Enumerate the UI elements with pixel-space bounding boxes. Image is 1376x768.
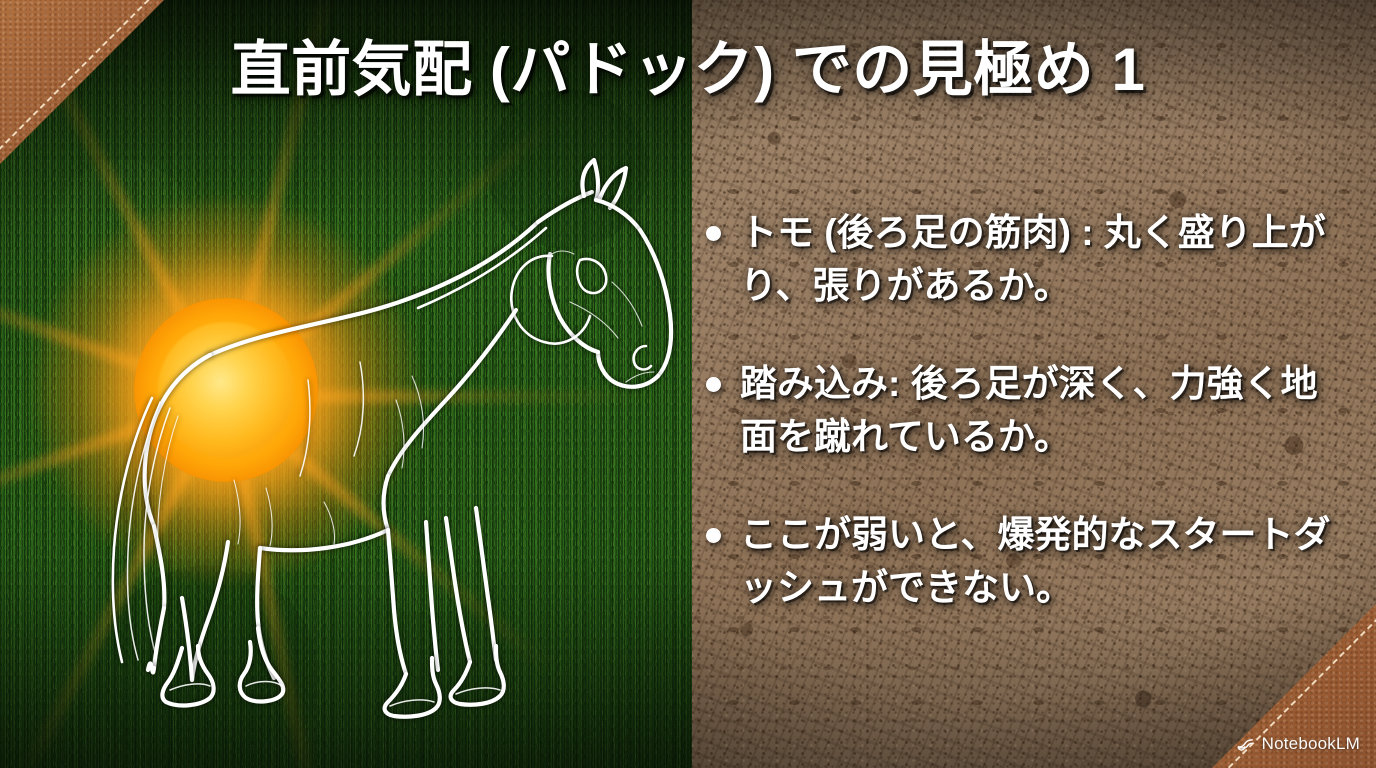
bullet-list: トモ (後ろ足の筋肉) : 丸く盛り上がり、張りがあるか。 踏み込み: 後ろ足が… (706, 207, 1346, 614)
leather-edge-shadow (0, 0, 200, 200)
bullet-dot-icon (706, 528, 721, 543)
slide-canvas: 直前気配 (パドック) での見極め 1 トモ (後ろ足の筋肉) : 丸く盛り上が… (0, 0, 1376, 768)
leather-corner-top-left (0, 0, 200, 200)
watermark-label: NotebookLM (1262, 734, 1360, 754)
list-item: 踏み込み: 後ろ足が深く、力強く地面を蹴れているか。 (706, 358, 1346, 463)
bullet-dot-icon (706, 377, 721, 392)
list-item: トモ (後ろ足の筋肉) : 丸く盛り上がり、張りがあるか。 (706, 207, 1346, 312)
notebooklm-watermark: NotebookLM (1236, 734, 1360, 754)
notebooklm-spiral-icon (1236, 735, 1255, 754)
slide-title: 直前気配 (パドック) での見極め 1 (0, 38, 1376, 103)
bullet-text: 踏み込み: 後ろ足が深く、力強く地面を蹴れているか。 (740, 358, 1346, 463)
bullet-dot-icon (706, 226, 721, 241)
bullet-text: トモ (後ろ足の筋肉) : 丸く盛り上がり、張りがあるか。 (740, 207, 1346, 312)
